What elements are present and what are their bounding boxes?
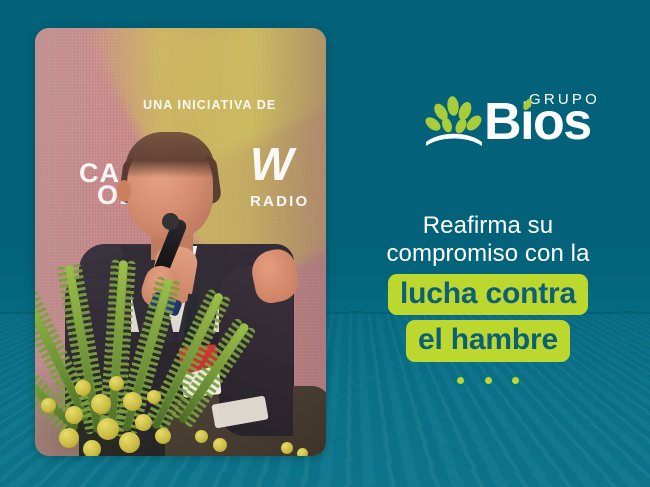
headline-line-2: compromiso con la — [330, 240, 646, 268]
headline-highlight-block: lucha contra el hambre — [330, 274, 646, 362]
backdrop-sponsor-w-mark: W — [250, 146, 290, 183]
flower-cluster — [97, 418, 119, 440]
flower-cluster — [83, 440, 101, 456]
flower-cluster — [91, 394, 111, 414]
dot-icon — [457, 377, 464, 384]
leaf-sun-icon — [424, 92, 484, 150]
flower-cluster — [109, 376, 124, 391]
speaker-ear — [117, 180, 131, 202]
headline-highlight-1: lucha contra — [388, 274, 588, 316]
flower-cluster — [135, 414, 152, 431]
speaker-photo: UNA INICIATIVA DE CA OL W RADIO — [35, 28, 326, 456]
flower-cluster — [213, 438, 227, 452]
flower-cluster — [75, 380, 91, 396]
grupo-bios-logo: GRUPO Bios — [424, 88, 624, 156]
backdrop-initiative-text: UNA INICIATIVA DE — [143, 98, 276, 112]
flower-cluster — [147, 390, 161, 404]
headline-highlight-2: el hambre — [406, 320, 570, 362]
headline-line-1: Reafirma su — [330, 212, 646, 240]
flower-cluster — [65, 406, 83, 424]
flower-cluster — [123, 392, 142, 411]
flower-cluster — [119, 432, 140, 453]
dot-icon — [485, 377, 492, 384]
flower-cluster — [41, 398, 56, 413]
flower-cluster — [195, 430, 208, 443]
flower-cluster — [297, 448, 308, 456]
decorative-dots — [330, 372, 646, 390]
logo-wordmark: Bios — [484, 96, 591, 148]
flower-cluster — [281, 442, 293, 454]
promo-card: UNA INICIATIVA DE CA OL W RADIO — [0, 0, 650, 487]
flower-cluster — [155, 428, 171, 444]
flower-cluster — [59, 428, 79, 448]
dot-icon — [512, 377, 519, 384]
headline-block: Reafirma su compromiso con la lucha cont… — [330, 212, 646, 362]
backdrop-sponsor-radio-label: RADIO — [250, 193, 309, 210]
